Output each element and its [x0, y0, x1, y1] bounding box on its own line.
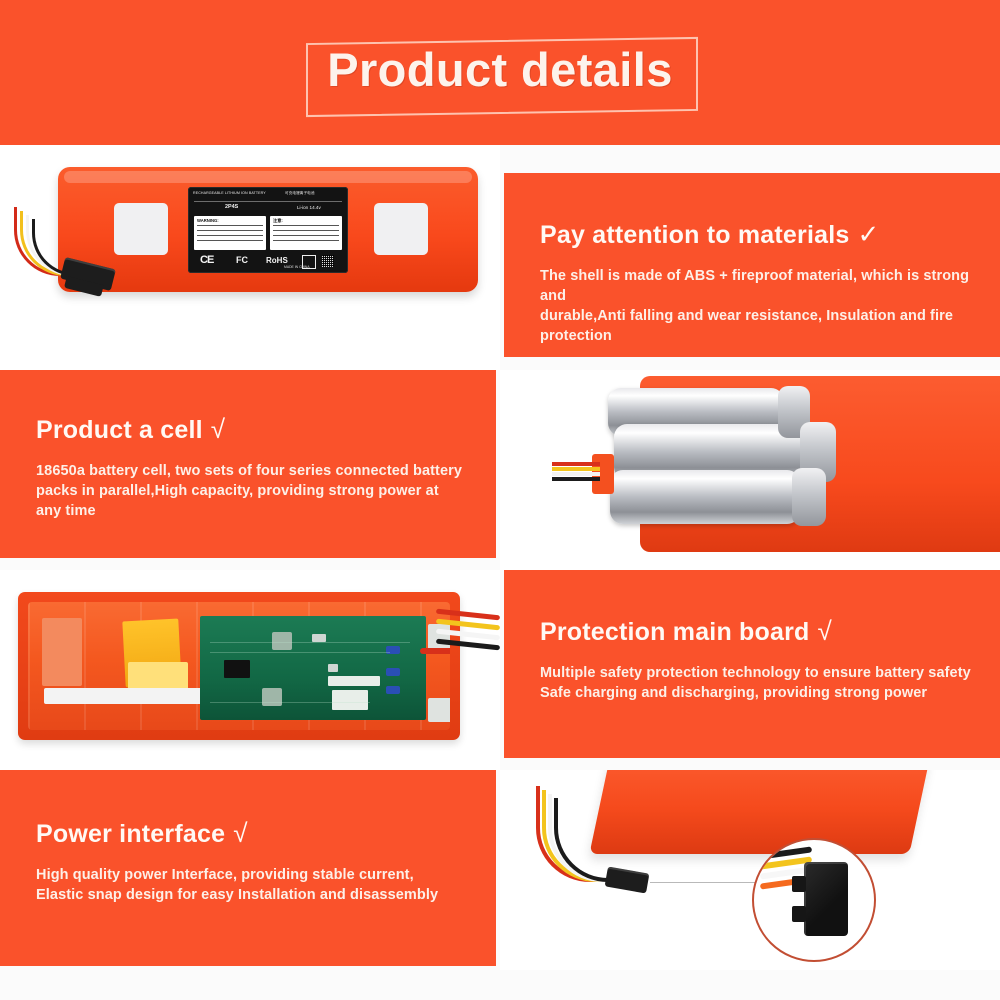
page-title: Product details: [0, 34, 1000, 106]
label-warning-en: WARNING:: [194, 216, 266, 250]
open-battery-pcb-photo: [0, 570, 500, 770]
battery-pack-body: RECHARGEABLE LITHIUM ION BATTERY 可充电锂离子电…: [58, 167, 478, 292]
protection-text-panel: Protection main board√ Multiple safety p…: [504, 570, 1000, 758]
battery-label: RECHARGEABLE LITHIUM ION BATTERY 可充电锂离子电…: [188, 187, 348, 273]
cell-end-3: [792, 468, 826, 526]
protection-heading: Protection main board√: [540, 616, 972, 647]
materials-body-line2: durable,Anti falling and wear resistance…: [540, 306, 972, 346]
label-divider: [194, 201, 342, 202]
pack-pad-right: [374, 203, 428, 255]
wire-yellow: [436, 619, 500, 631]
footer-band: [0, 970, 1000, 1000]
section-power-interface: Power interface√ High quality power Inte…: [0, 770, 1000, 970]
check-icon: √: [818, 616, 832, 646]
power-heading: Power interface√: [36, 818, 468, 849]
label-spec-row: 2P4S Li-ion 14.4v: [193, 204, 343, 214]
cell-body-line1: 18650a battery cell, two sets of four se…: [36, 461, 468, 481]
rohs-mark-icon: RoHS: [266, 256, 288, 265]
cell-heading: Product a cell√: [36, 414, 468, 445]
foam-block: [42, 618, 82, 686]
protection-pcb: [200, 616, 426, 720]
wire-white: [552, 472, 600, 476]
section-materials: RECHARGEABLE LITHIUM ION BATTERY 可充电锂离子电…: [0, 145, 1000, 370]
materials-text-panel: Pay attention to materials✓ The shell is…: [504, 173, 1000, 357]
section-protection-board: Protection main board√ Multiple safety p…: [0, 570, 1000, 770]
protection-body-line2: Safe charging and discharging, providing…: [540, 683, 972, 703]
label-origin: MADE IN CHINA: [284, 265, 310, 269]
qr-code-icon: [322, 255, 334, 267]
label-certifications: CE FC RoHS: [194, 253, 342, 270]
power-text-panel: Power interface√ High quality power Inte…: [0, 770, 496, 966]
label-title-en: RECHARGEABLE LITHIUM ION BATTERY: [193, 191, 266, 195]
fcc-mark-icon: FC: [236, 255, 248, 265]
materials-text-block: Pay attention to materials✓ The shell is…: [540, 219, 972, 346]
magnifier-circle: [752, 838, 876, 962]
protection-text-block: Protection main board√ Multiple safety p…: [540, 616, 972, 703]
label-title-cn: 可充电锂离子电池: [285, 191, 315, 196]
wire-red: [552, 462, 600, 466]
label-model: 2P4S: [225, 204, 238, 210]
power-body-line2: Elastic snap design for easy Installatio…: [36, 885, 468, 905]
pack-pad-left: [114, 203, 168, 255]
power-connector-closeup-photo: [500, 770, 1000, 970]
battery-pack-front-photo: RECHARGEABLE LITHIUM ION BATTERY 可充电锂离子电…: [0, 145, 500, 370]
warning-en-title: WARNING:: [197, 218, 219, 223]
materials-body-line1: The shell is made of ABS + fireproof mat…: [540, 266, 972, 306]
output-harness: [436, 610, 500, 658]
materials-heading: Pay attention to materials✓: [540, 219, 972, 250]
cell-wires: [552, 462, 600, 484]
cell-text-block: Product a cell√ 18650a battery cell, two…: [36, 414, 468, 521]
zoom-leader-line: [650, 882, 756, 883]
warning-cn-title: 注意:: [273, 218, 283, 224]
check-icon: √: [233, 818, 247, 848]
label-top-row: RECHARGEABLE LITHIUM ION BATTERY 可充电锂离子电…: [193, 191, 343, 199]
label-voltage: Li-ion 14.4v: [297, 205, 321, 210]
connector-plug-zoom: [804, 862, 848, 936]
pcb-illustration: [0, 570, 500, 770]
page-header: Product details: [0, 0, 1000, 145]
ce-mark-icon: CE: [200, 254, 213, 266]
tray-interior: [28, 602, 450, 730]
cell-cylinder-3: [610, 470, 800, 524]
cell-body-line2: packs in parallel,High capacity, providi…: [36, 481, 468, 521]
connector-bottom: [428, 698, 450, 722]
cell-text-panel: Product a cell√ 18650a battery cell, two…: [0, 370, 496, 558]
wire-black: [552, 477, 600, 481]
power-body-line1: High quality power Interface, providing …: [36, 865, 468, 885]
section-cell: Product a cell√ 18650a battery cell, two…: [0, 370, 1000, 570]
white-strip: [44, 688, 212, 704]
battery-cells-cutaway-photo: [500, 370, 1000, 570]
check-icon: √: [211, 414, 225, 444]
protection-body-line1: Multiple safety protection technology to…: [540, 663, 972, 683]
battery-pack-illustration: RECHARGEABLE LITHIUM ION BATTERY 可充电锂离子电…: [0, 145, 500, 370]
cells-illustration: [500, 370, 1000, 570]
wire-white: [436, 629, 500, 641]
product-details-page: Product details RECHARGEABLE LITHIUM ION…: [0, 0, 1000, 1000]
wire-yellow: [552, 467, 600, 471]
power-text-block: Power interface√ High quality power Inte…: [36, 818, 468, 905]
connector-illustration: [500, 770, 1000, 970]
check-icon: ✓: [857, 219, 879, 249]
battery-pack-edge: [589, 770, 930, 854]
wire-red: [436, 609, 500, 621]
label-warning-cn: 注意:: [270, 216, 342, 250]
battery-tray: [18, 592, 460, 740]
wire-black: [436, 639, 500, 651]
